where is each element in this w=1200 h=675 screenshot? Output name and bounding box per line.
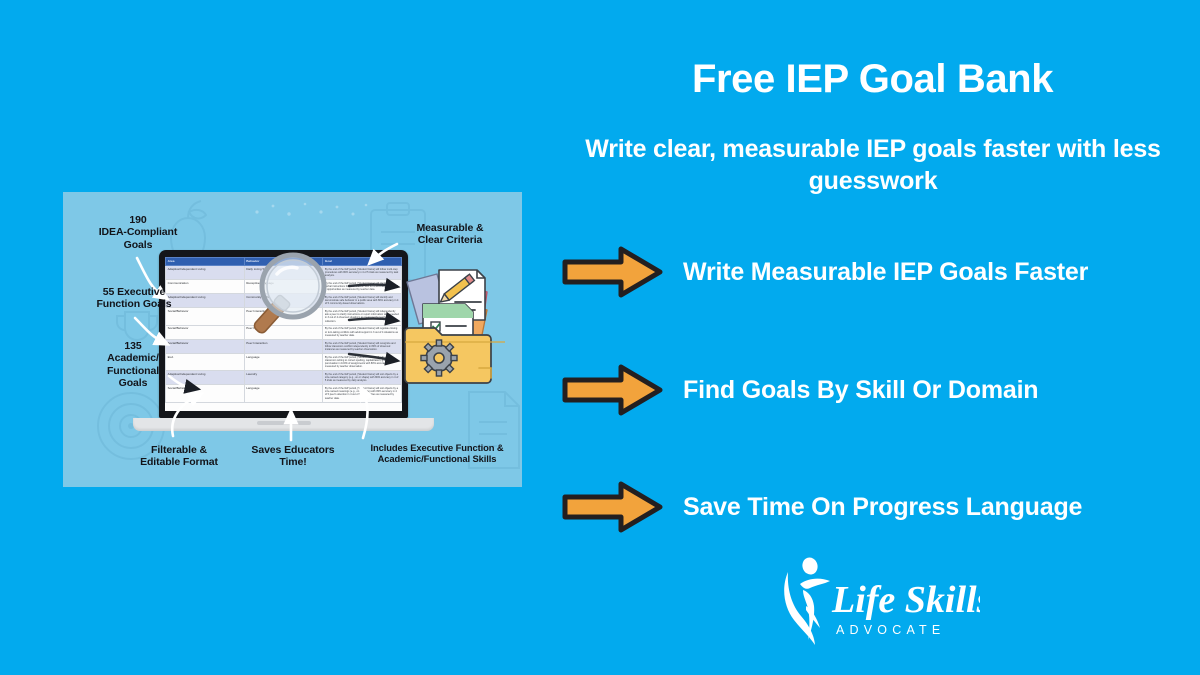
laptop-base bbox=[133, 418, 434, 431]
svg-text:Life Skills: Life Skills bbox=[831, 579, 980, 621]
label-measurable: Measurable & Clear Criteria bbox=[385, 222, 515, 247]
right-arrow-icon bbox=[561, 361, 667, 419]
svg-text:ADVOCATE: ADVOCATE bbox=[836, 623, 945, 637]
cell-area: Social/Behavior bbox=[166, 325, 245, 339]
label-includes-skills: Includes Executive Function & Academic/F… bbox=[355, 442, 519, 464]
magnifying-glass-icon bbox=[251, 252, 335, 348]
cell-goal: By the end of the IEP period, [Student N… bbox=[323, 371, 402, 385]
logo-wordmark: Life Skills bbox=[831, 579, 980, 621]
sparkle-dots-icon bbox=[251, 198, 371, 224]
folder-with-gear-icon bbox=[405, 328, 505, 383]
benefit-label-1: Find Goals By Skill Or Domain bbox=[683, 376, 1038, 405]
label-academic-goals: 135 Academic/ Functional Goals bbox=[85, 340, 181, 390]
right-arrow-icon bbox=[561, 478, 667, 536]
label-idea-goals: 190 IDEA-Compliant Goals bbox=[81, 214, 195, 251]
page-title: Free IEP Goal Bank bbox=[545, 57, 1200, 102]
documents-folder-illustration bbox=[393, 264, 505, 386]
table-row: Adaptive/Independent Living Laundry By t… bbox=[166, 371, 402, 385]
cell-behavior: Language bbox=[244, 353, 323, 370]
label-executive-goals: 55 Executive Function Goals bbox=[69, 286, 199, 311]
cell-goal: By the end of the IEP period, [Student N… bbox=[323, 385, 402, 402]
label-saves-time: Saves Educators Time! bbox=[231, 444, 355, 469]
benefit-item-2: Save Time On Progress Language bbox=[561, 478, 1200, 536]
brand-logo: Life Skills ADVOCATE bbox=[770, 550, 980, 650]
page-subtitle: Write clear, measurable IEP goals faster… bbox=[573, 134, 1173, 198]
benefit-item-0: Write Measurable IEP Goals Faster bbox=[561, 243, 1200, 301]
cell-behavior: Laundry bbox=[244, 371, 323, 385]
right-arrow-icon bbox=[561, 243, 667, 301]
cell-behavior: Language bbox=[244, 385, 323, 402]
leaping-figure-icon bbox=[784, 556, 830, 645]
label-filterable: Filterable & Editable Format bbox=[115, 444, 243, 469]
cell-goal: By the end of the IEP period, [Student N… bbox=[323, 353, 402, 370]
promo-canvas: Area Behavior Goal Adaptive/Independent … bbox=[0, 0, 1200, 675]
column-header-area: Area bbox=[166, 258, 245, 266]
laptop-trackpad-notch bbox=[257, 421, 311, 425]
promo-copy-column: Free IEP Goal Bank Write clear, measurab… bbox=[545, 0, 1200, 675]
logo-tagline: ADVOCATE bbox=[836, 623, 945, 637]
cell-area: Adaptive/Independent Living bbox=[166, 265, 245, 279]
product-infographic: Area Behavior Goal Adaptive/Independent … bbox=[63, 192, 522, 487]
table-row: Social/Behavior Language By the end of t… bbox=[166, 385, 402, 402]
table-row: ELA Language By the end of the IEP perio… bbox=[166, 353, 402, 370]
gear-icon bbox=[421, 340, 457, 376]
benefit-item-1: Find Goals By Skill Or Domain bbox=[561, 361, 1200, 419]
benefit-label-2: Save Time On Progress Language bbox=[683, 493, 1082, 522]
benefit-label-0: Write Measurable IEP Goals Faster bbox=[683, 258, 1088, 287]
